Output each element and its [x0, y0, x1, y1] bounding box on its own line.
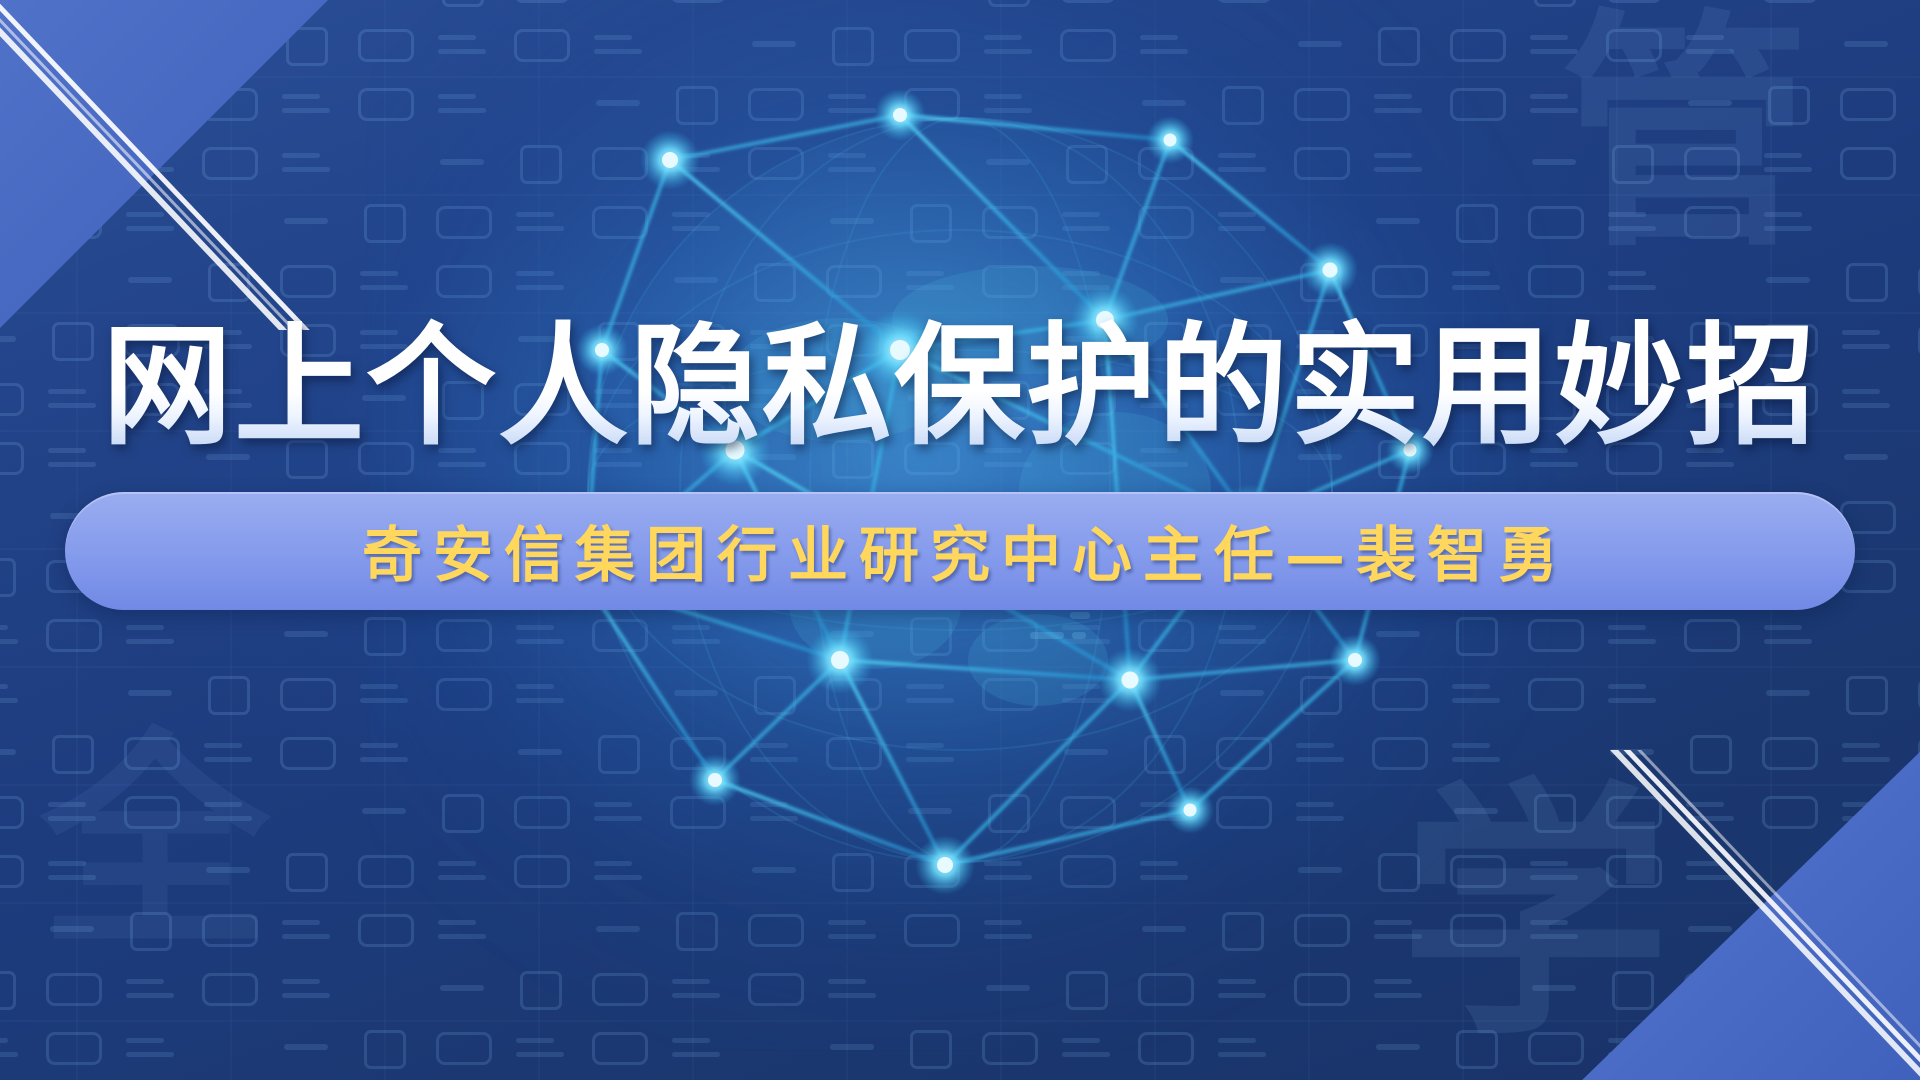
- corner-decoration-top-left: [0, 0, 330, 330]
- subtitle-container: 奇安信集团行业研究中心主任—裴智勇: [46, 492, 1874, 610]
- corner-decoration-bottom-right: [1580, 750, 1920, 1080]
- subtitle-text: 奇安信集团行业研究中心主任—裴智勇: [351, 507, 1569, 594]
- banner-content: 网上个人隐私保护的实用妙招 奇安信集团行业研究中心主任—裴智勇: [0, 318, 1920, 610]
- page-title: 网上个人隐私保护的实用妙招: [60, 318, 1861, 458]
- banner-slide: 管 学 全: [0, 0, 1920, 1080]
- subtitle-pill: 奇安信集团行业研究中心主任—裴智勇: [65, 492, 1855, 610]
